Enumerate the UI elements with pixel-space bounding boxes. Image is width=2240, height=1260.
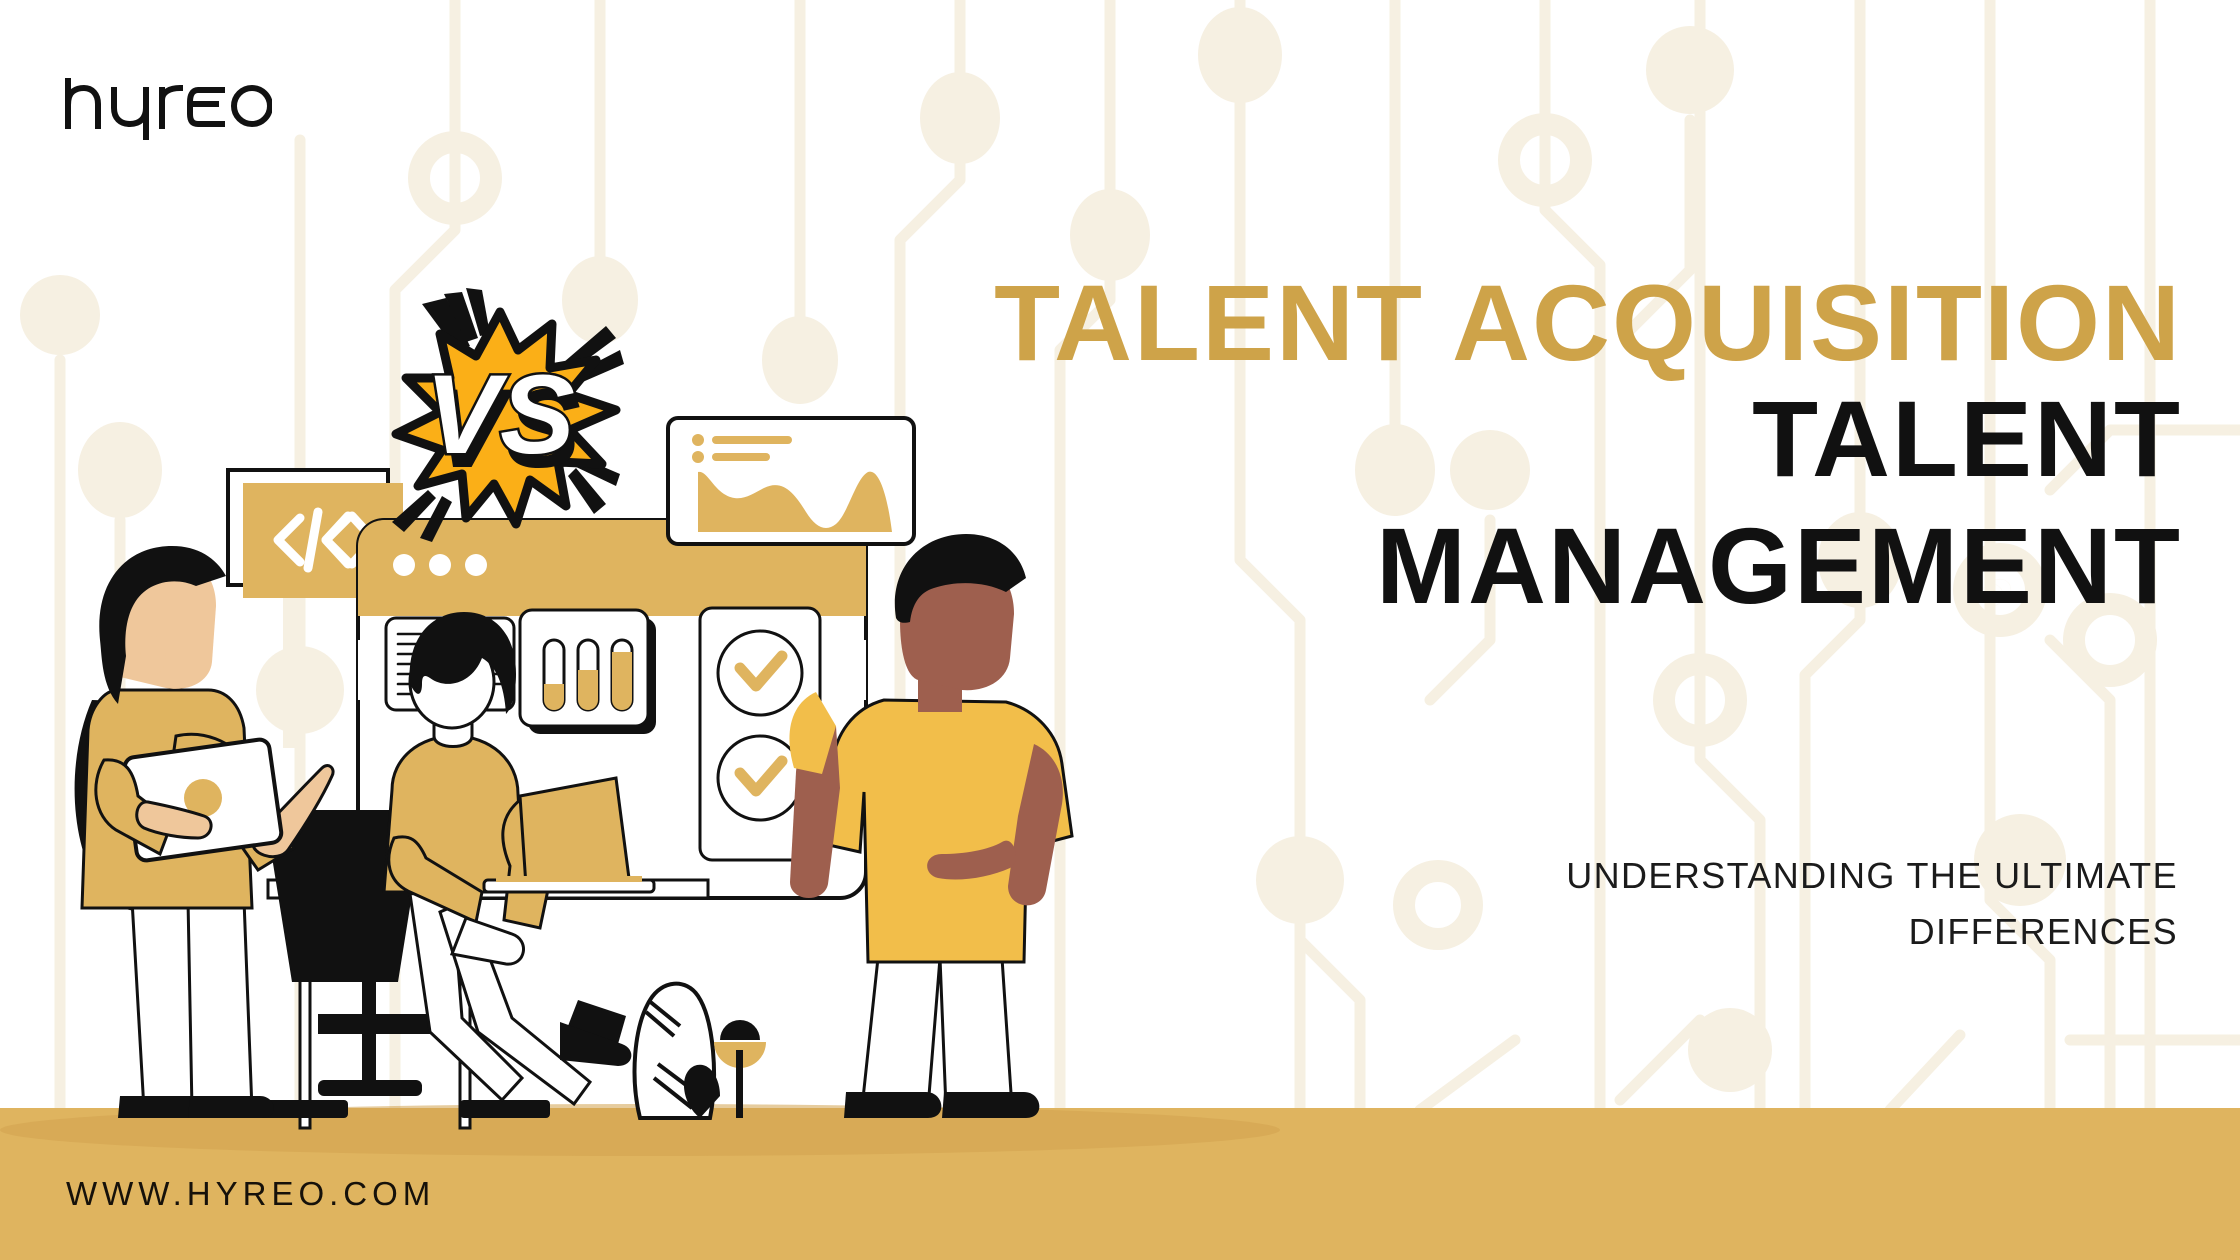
headline-line-2-row: VS VS TALENT — [622, 384, 2182, 509]
subtitle-line-1: UNDERSTANDING THE ULTIMATE — [1278, 848, 2178, 904]
vs-label: VS — [425, 352, 574, 477]
hero-illustration — [0, 0, 2240, 1260]
headline-line-2: TALENT — [1752, 384, 2182, 494]
headline-block: TALENT ACQUISITION — [622, 268, 2182, 621]
headline-line-1: TALENT ACQUISITION — [622, 268, 2182, 378]
vs-burst-badge: VS VS — [370, 288, 630, 548]
shoe — [942, 1092, 1039, 1118]
hyreo-logo[interactable]: hyreo — [62, 78, 272, 140]
subtitle-block: UNDERSTANDING THE ULTIMATE DIFFERENCES — [1278, 848, 2178, 960]
banner-root: hyreo TALENT ACQUISITION — [0, 0, 2240, 1260]
cat — [635, 984, 766, 1118]
footer-website-url[interactable]: WWW.HYREO.COM — [66, 1175, 435, 1213]
shoe — [844, 1092, 941, 1118]
bar-chart-bars — [544, 640, 632, 710]
subtitle-line-2: DIFFERENCES — [1278, 904, 2178, 960]
shoe — [188, 1096, 274, 1118]
bar-chart-card — [520, 610, 656, 734]
headline-line-3: MANAGEMENT — [622, 511, 2182, 621]
